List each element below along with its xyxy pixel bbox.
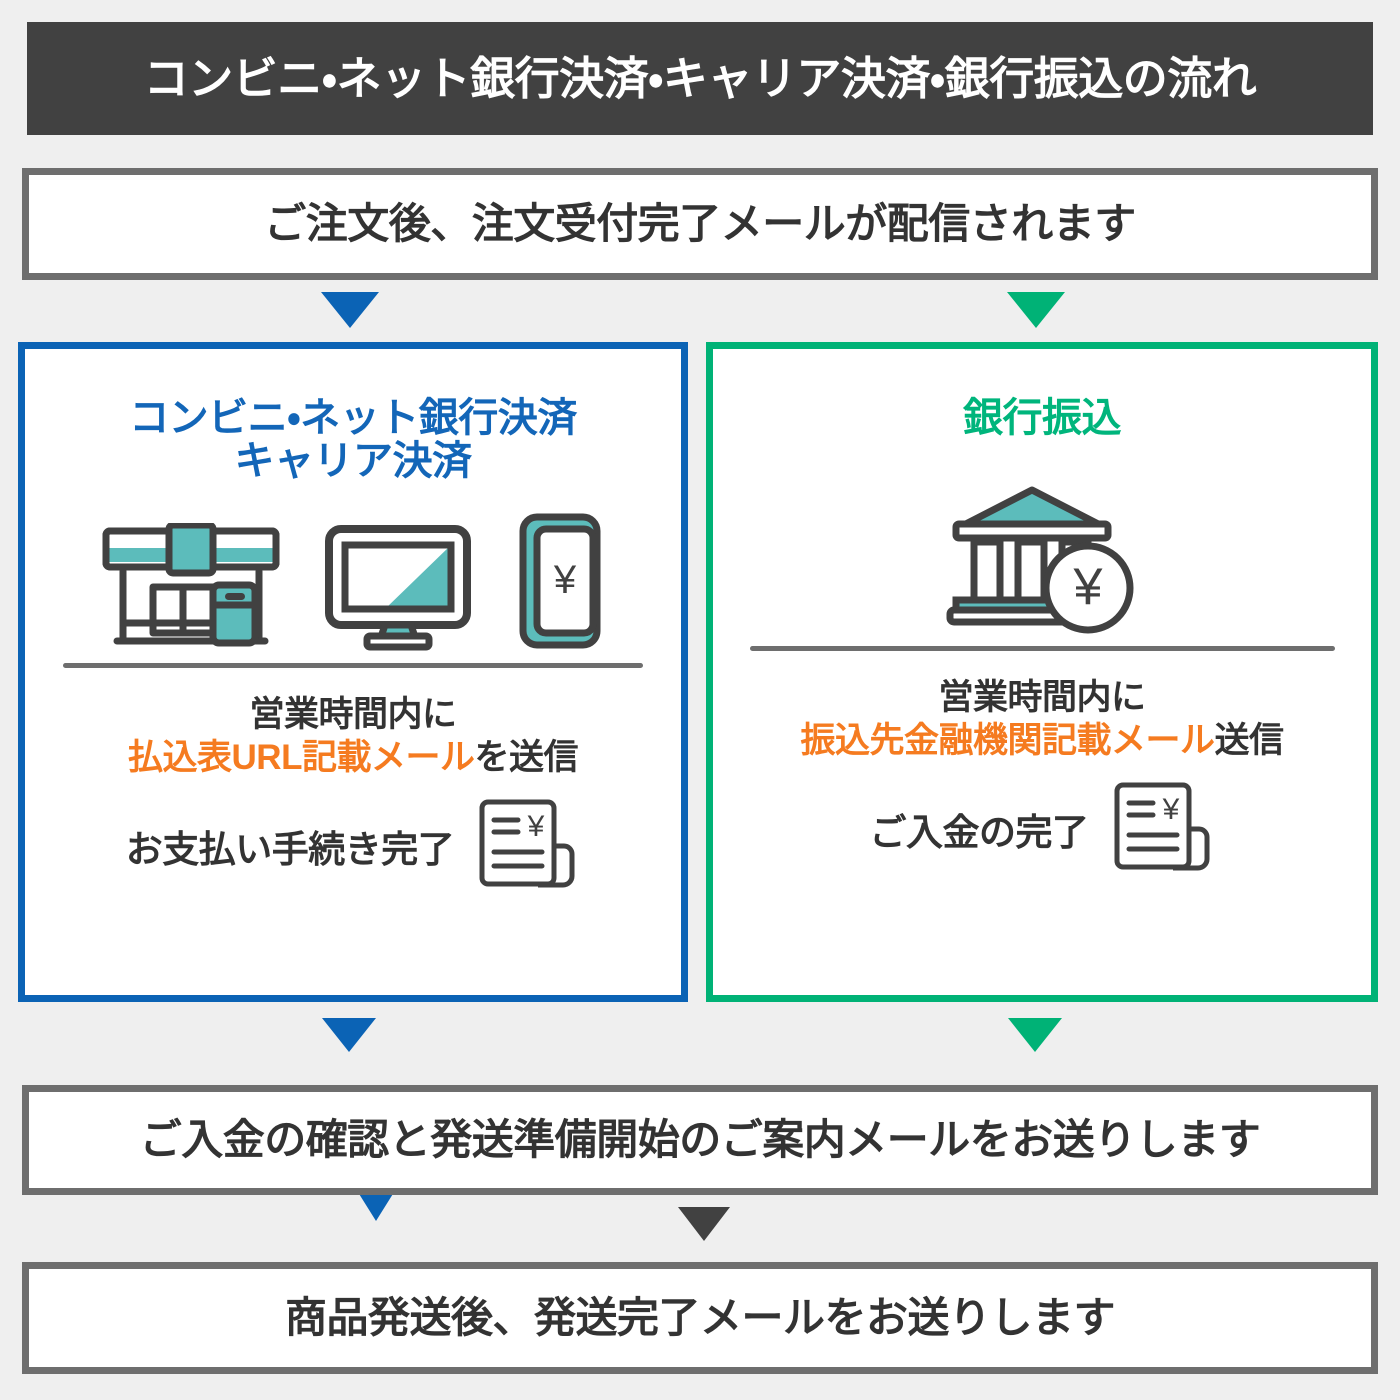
svg-text:¥: ¥ <box>527 810 545 843</box>
panel-bank-mail-line1: 営業時間内に <box>713 677 1371 720</box>
panel-konbini-mail-suffix: を送信 <box>474 738 578 777</box>
step-order-label: ご注文後、注文受付完了メールが配信されます <box>264 203 1136 245</box>
panel-konbini-payment: コンビニ・ネット銀行決済 キャリア決済 <box>18 342 688 1002</box>
convenience-store-icon <box>101 523 281 651</box>
panel-konbini-complete-row: お支払い手続き完了 ¥ <box>25 798 681 894</box>
svg-text:¥: ¥ <box>553 558 577 602</box>
page-title: コンビニ・ネット銀行決済・キャリア決済・銀行振込の流れ <box>144 56 1256 101</box>
panel-bank-transfer: 銀行振込 ¥ <box>706 342 1378 1002</box>
step-box-payment-confirmed: ご入金の確認と発送準備開始のご案内メールをお送りします <box>22 1085 1378 1195</box>
panel-konbini-mail-highlight: 払込表URL記載メール <box>128 738 474 777</box>
down-arrow-blue-icon <box>322 1018 376 1052</box>
panel-konbini-title: コンビニ・ネット銀行決済 キャリア決済 <box>25 397 681 483</box>
panel-bank-icon-row: ¥ <box>713 484 1371 634</box>
step-box-shipped: 商品発送後、発送完了メールをお送りします <box>22 1262 1378 1374</box>
invoice-document-icon: ¥ <box>468 798 580 894</box>
down-arrow-dark-icon <box>678 1207 730 1241</box>
step-box-order-received: ご注文後、注文受付完了メールが配信されます <box>22 168 1378 280</box>
step-confirm-label: ご入金の確認と発送準備開始のご案内メールをお送りします <box>140 1119 1261 1161</box>
step-ship-label: 商品発送後、発送完了メールをお送りします <box>285 1297 1115 1339</box>
panel-bank-complete-row: ご入金の完了 ¥ <box>713 781 1371 877</box>
invoice-document-icon: ¥ <box>1103 781 1215 877</box>
down-arrow-green-icon <box>1007 292 1065 328</box>
down-arrow-green-icon <box>1008 1018 1062 1052</box>
panel-bank-complete-label: ご入金の完了 <box>870 802 1089 856</box>
panel-konbini-divider <box>63 663 643 668</box>
panel-bank-mail-line2: 振込先金融機関記載メール送信 <box>713 720 1371 763</box>
payment-flow-diagram: コンビニ・ネット銀行決済・キャリア決済・銀行振込の流れ ご注文後、注文受付完了メ… <box>0 0 1400 1400</box>
panel-konbini-icon-row: ¥ <box>25 501 681 651</box>
desktop-monitor-icon <box>323 523 473 651</box>
svg-text:¥: ¥ <box>1073 558 1103 616</box>
smartphone-yen-icon: ¥ <box>515 511 605 651</box>
svg-text:¥: ¥ <box>1161 793 1179 826</box>
panel-konbini-mail-note: 営業時間内に 払込表URL記載メールを送信 <box>25 694 681 779</box>
down-arrow-blue-icon <box>321 292 379 328</box>
panel-bank-divider <box>750 646 1335 651</box>
panel-konbini-complete-label: お支払い手続き完了 <box>126 819 455 873</box>
panel-bank-mail-suffix: 送信 <box>1215 721 1284 760</box>
panel-bank-mail-note: 営業時間内に 振込先金融機関記載メール送信 <box>713 677 1371 762</box>
panel-konbini-mail-line1: 営業時間内に <box>25 694 681 737</box>
panel-bank-mail-highlight: 振込先金融機関記載メール <box>800 721 1214 760</box>
panel-konbini-mail-line2: 払込表URL記載メールを送信 <box>25 737 681 780</box>
diagram-header: コンビニ・ネット銀行決済・キャリア決済・銀行振込の流れ <box>27 22 1373 135</box>
panel-bank-title: 銀行振込 <box>713 397 1371 440</box>
bank-building-yen-icon: ¥ <box>942 484 1142 634</box>
